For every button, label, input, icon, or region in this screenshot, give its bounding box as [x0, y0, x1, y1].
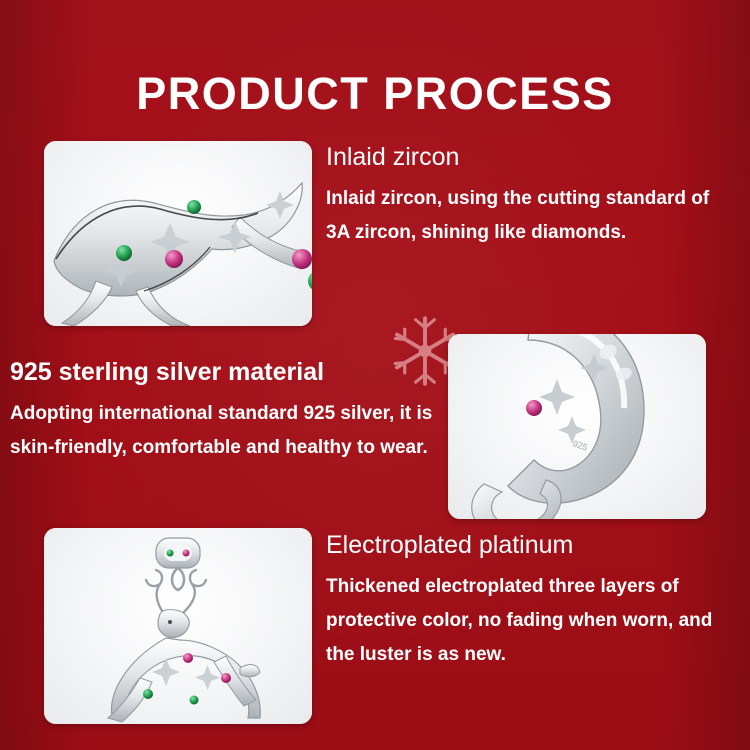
full-charm-illustration — [44, 528, 312, 724]
photo-background — [44, 528, 312, 724]
page-title: PRODUCT PROCESS — [0, 68, 750, 120]
bail-closeup-illustration: 925 — [448, 334, 706, 519]
photo-background: 925 — [448, 334, 706, 519]
section-electroplated-platinum: Electroplated platinum Thickened electro… — [326, 530, 742, 671]
section-heading-inlaid-zircon: Inlaid zircon — [326, 142, 726, 172]
section-heading-electroplated-platinum: Electroplated platinum — [326, 530, 742, 560]
section-heading-sterling-silver: 925 sterling silver material — [10, 357, 440, 387]
section-body-inlaid-zircon: Inlaid zircon, using the cutting standar… — [326, 182, 726, 250]
section-sterling-silver: 925 sterling silver material Adopting in… — [10, 357, 440, 465]
photo-background — [44, 141, 312, 326]
full-reindeer-charm-photo — [44, 528, 312, 724]
reindeer-closeup-illustration — [44, 141, 312, 326]
section-inlaid-zircon: Inlaid zircon Inlaid zircon, using the c… — [326, 142, 726, 250]
product-process-banner: PRODUCT PROCESS — [0, 0, 750, 750]
gem-green — [187, 200, 201, 214]
reindeer-charm-closeup-photo — [44, 141, 312, 326]
svg-text:925: 925 — [571, 438, 588, 452]
section-body-electroplated-platinum: Thickened electroplated three layers of … — [326, 570, 742, 671]
silver-bail-closeup-photo: 925 — [448, 334, 706, 519]
section-body-sterling-silver: Adopting international standard 925 silv… — [10, 397, 440, 465]
